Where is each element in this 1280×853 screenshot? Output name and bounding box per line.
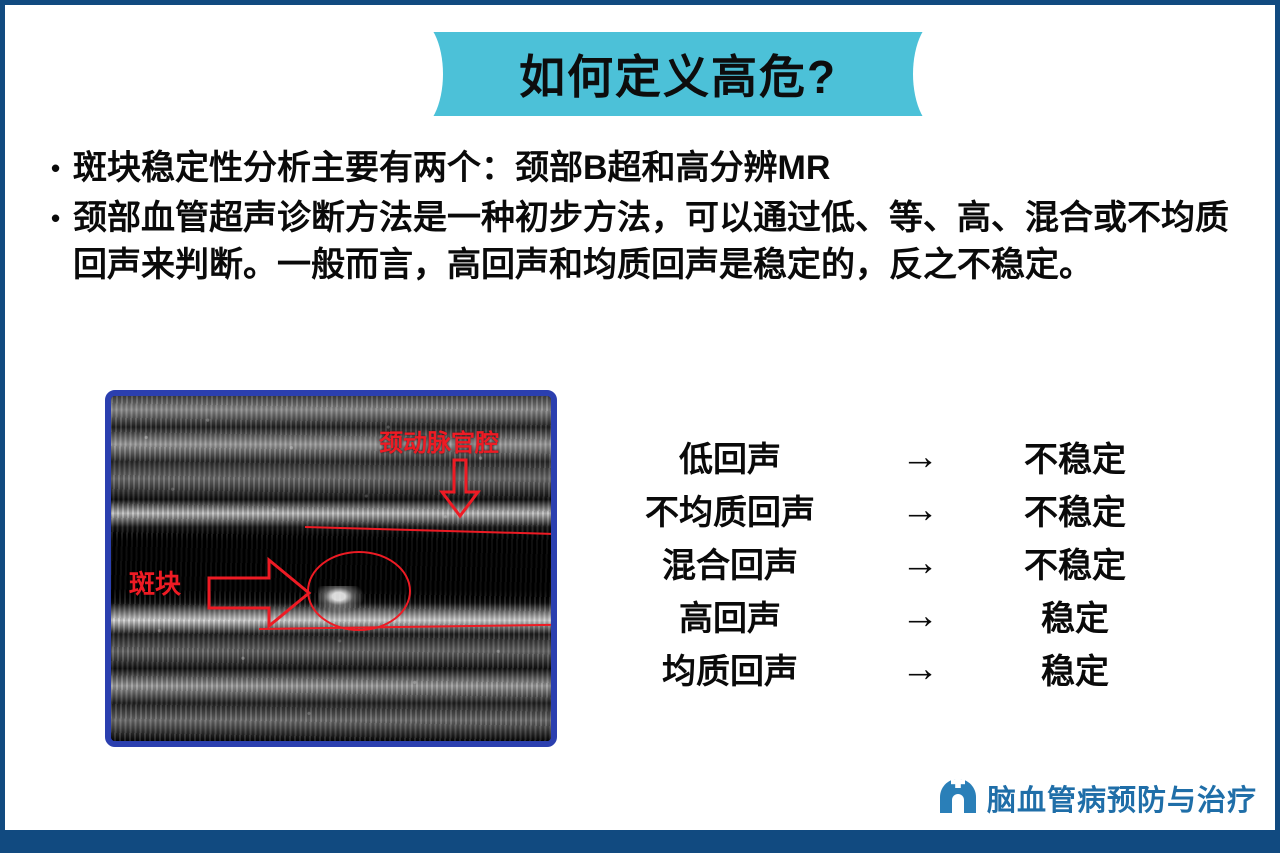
bullet-marker-icon: •: [51, 145, 73, 192]
brand-name: 脑血管病预防与治疗: [987, 777, 1257, 819]
maps-to-arrow-icon: →: [855, 650, 985, 688]
maps-to-arrow-icon: →: [855, 438, 985, 476]
ultrasound-figure: 颈动脉官腔 斑块: [105, 390, 557, 747]
table-row: 高回声 → 稳定: [605, 589, 1165, 642]
table-row: 均质回声 → 稳定: [605, 642, 1165, 695]
echo-result: 不稳定: [985, 432, 1165, 481]
bullet-marker-icon: •: [51, 195, 73, 242]
table-row: 不均质回声 → 不稳定: [605, 483, 1165, 536]
footer-bar: [5, 830, 1275, 848]
echo-type: 低回声: [605, 432, 855, 481]
footer-brand: 脑血管病预防与治疗: [937, 775, 1257, 820]
echo-result: 稳定: [985, 644, 1165, 693]
maps-to-arrow-icon: →: [855, 544, 985, 582]
echo-type: 不均质回声: [605, 485, 855, 534]
echo-type: 均质回声: [605, 644, 855, 693]
slide-root: 如何定义高危? • 斑块稳定性分析主要有两个：颈部B超和高分辨MR • 颈部血管…: [0, 0, 1280, 853]
arrow-right-icon: [207, 556, 313, 635]
echo-result: 稳定: [985, 591, 1165, 640]
bullet-text: 斑块稳定性分析主要有两个：颈部B超和高分辨MR: [73, 145, 1246, 192]
maps-to-arrow-icon: →: [855, 491, 985, 529]
maps-to-arrow-icon: →: [855, 597, 985, 635]
plaque-label: 斑块: [129, 564, 181, 601]
page-title: 如何定义高危?: [415, 32, 941, 116]
list-item: • 颈部血管超声诊断方法是一种初步方法，可以通过低、等、高、混合或不均质回声来判…: [51, 195, 1246, 289]
echo-type: 高回声: [605, 591, 855, 640]
echo-result: 不稳定: [985, 538, 1165, 587]
lumen-label: 颈动脉官腔: [379, 423, 499, 458]
echo-result: 不稳定: [985, 485, 1165, 534]
table-row: 低回声 → 不稳定: [605, 430, 1165, 483]
bullet-list: • 斑块稳定性分析主要有两个：颈部B超和高分辨MR • 颈部血管超声诊断方法是一…: [51, 145, 1246, 292]
echo-type: 混合回声: [605, 538, 855, 587]
list-item: • 斑块稳定性分析主要有两个：颈部B超和高分辨MR: [51, 145, 1246, 192]
arrow-down-icon: [438, 458, 482, 525]
bullet-text: 颈部血管超声诊断方法是一种初步方法，可以通过低、等、高、混合或不均质回声来判断。…: [73, 195, 1246, 289]
table-row: 混合回声 → 不稳定: [605, 536, 1165, 589]
echo-stability-table: 低回声 → 不稳定 不均质回声 → 不稳定 混合回声 → 不稳定 高回声 → 稳…: [605, 430, 1165, 695]
plaque-circle-annotation: [307, 551, 411, 631]
title-banner: 如何定义高危?: [415, 32, 941, 116]
hospital-icon: [937, 775, 979, 820]
